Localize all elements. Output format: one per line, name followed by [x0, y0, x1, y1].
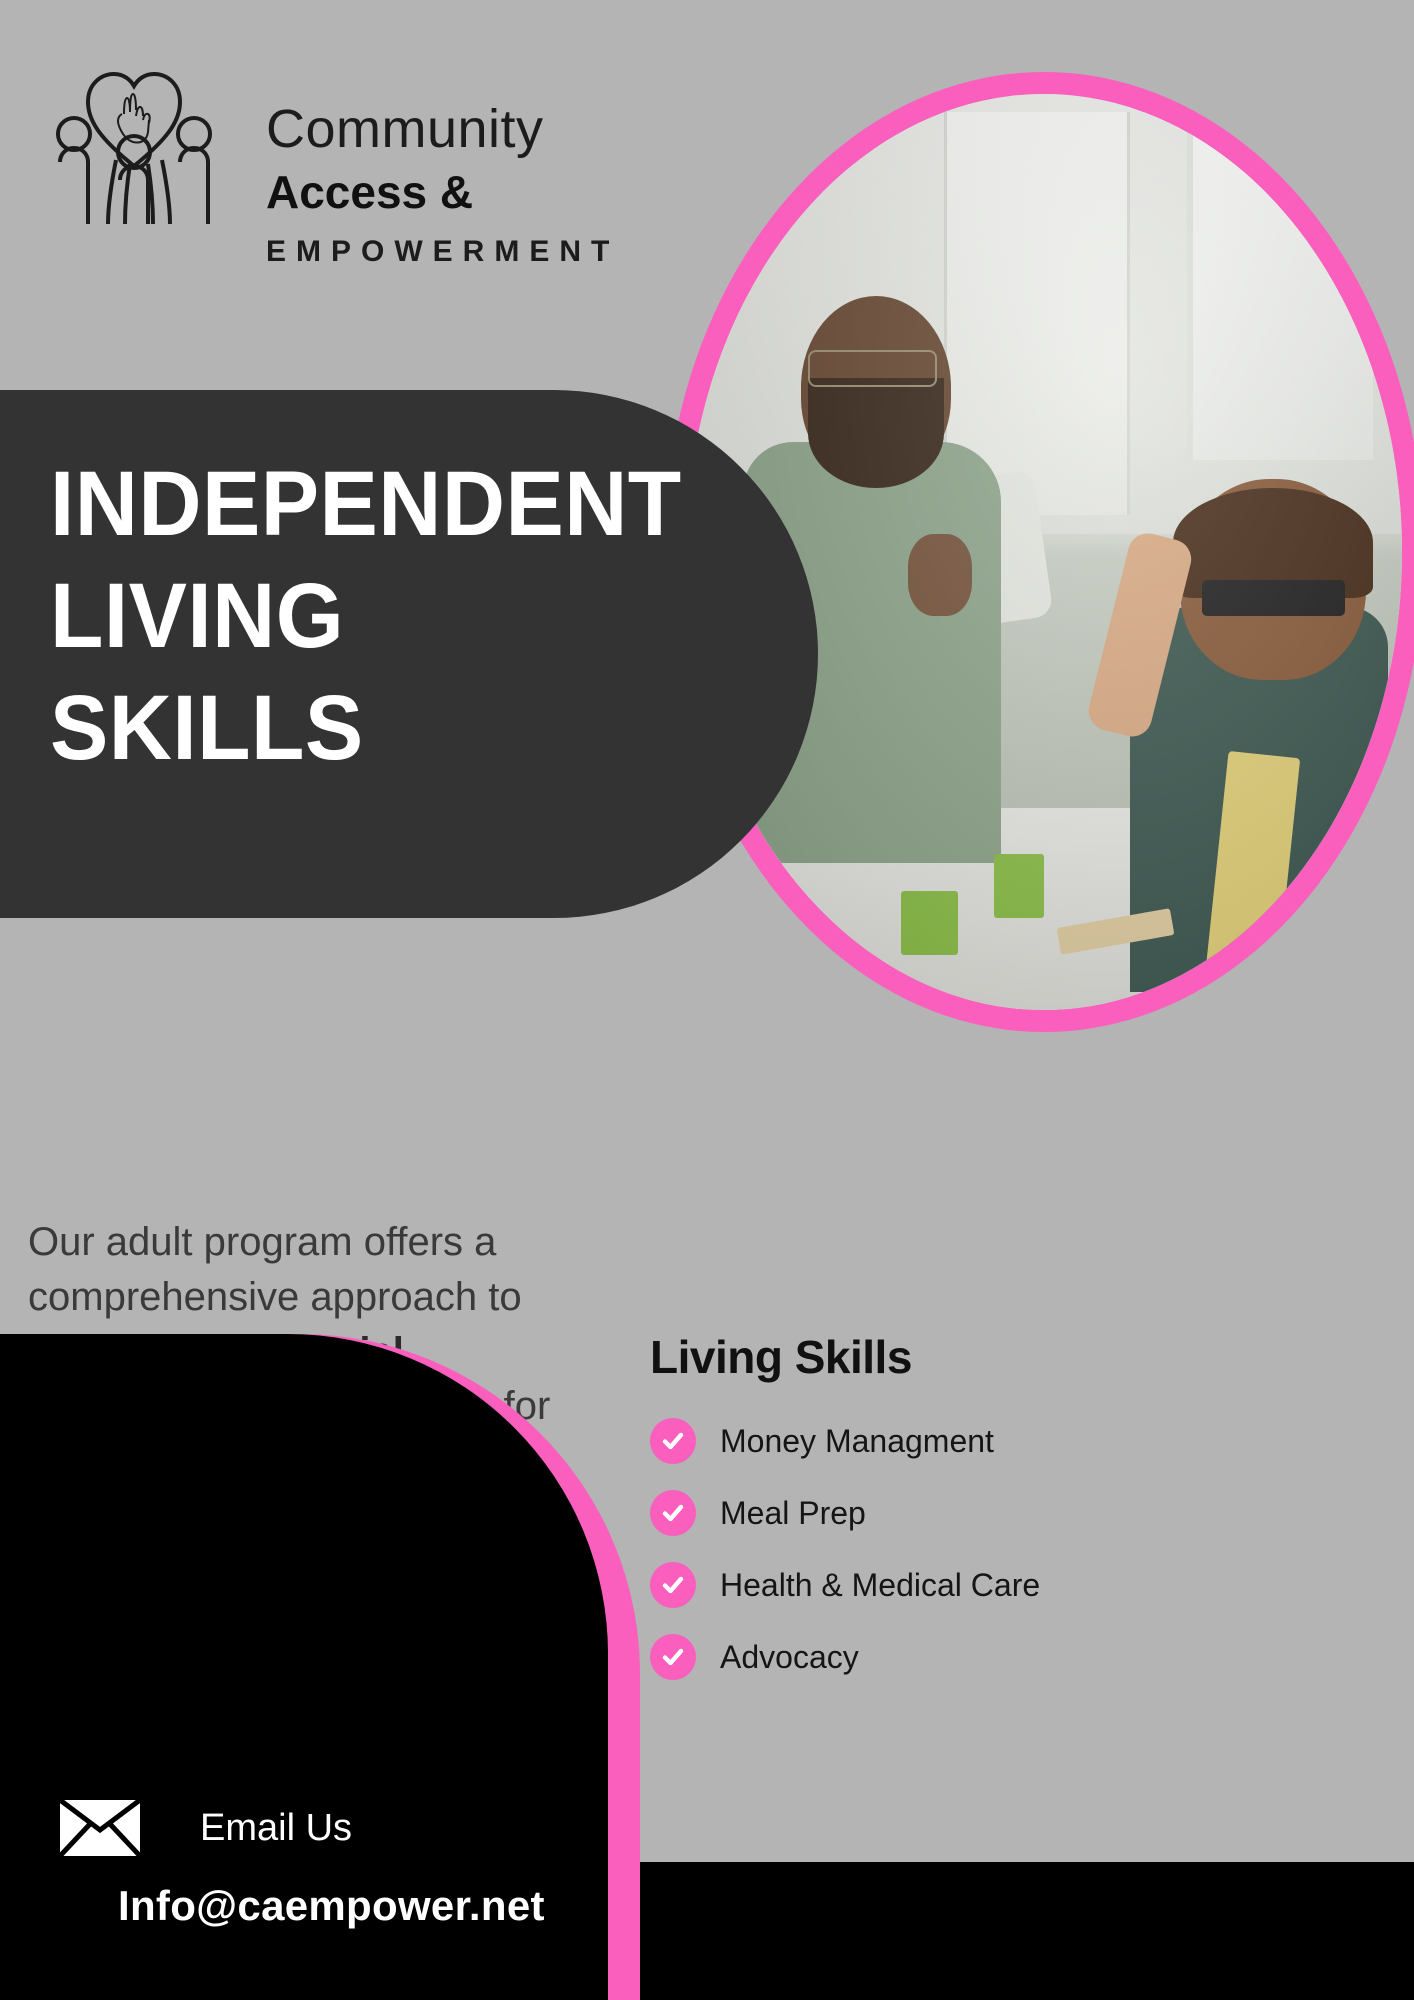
page-title: INDEPENDENT LIVING SKILLS [50, 448, 715, 785]
brand-logo-line1: Community [266, 102, 619, 156]
brand-logo-line3: EMPOWERMENT [266, 235, 619, 269]
skill-label: Health & Medical Care [720, 1567, 1040, 1604]
check-icon [650, 1634, 696, 1680]
brand-logo-text: Community Access & EMPOWERMENT [266, 102, 619, 269]
check-icon [650, 1562, 696, 1608]
living-skills-section: Living Skills Money Managment Meal Prep … [650, 1330, 1040, 1706]
page-title-line3: SKILLS [50, 672, 715, 784]
flyer-page: Community Access & EMPOWERMENT INDEPENDE… [0, 0, 1414, 2000]
check-icon [650, 1490, 696, 1536]
contact-email[interactable]: Info@caempower.net [118, 1882, 545, 1930]
page-title-line2: LIVING [50, 560, 715, 672]
list-item: Advocacy [650, 1634, 1040, 1680]
brand-logo-line2: Access & [266, 166, 619, 219]
skill-label: Meal Prep [720, 1495, 866, 1532]
page-title-line1: INDEPENDENT [50, 448, 715, 560]
list-item: Meal Prep [650, 1490, 1040, 1536]
living-skills-heading: Living Skills [650, 1330, 1040, 1384]
title-panel: INDEPENDENT LIVING SKILLS [0, 390, 818, 918]
contact-label: Email Us [200, 1807, 352, 1850]
heart-hands-people-logo-icon [44, 44, 224, 224]
contact-block: Email Us Info@caempower.net [60, 1800, 545, 1930]
skill-label: Advocacy [720, 1639, 859, 1676]
envelope-icon [60, 1800, 140, 1856]
list-item: Money Managment [650, 1418, 1040, 1464]
check-icon [650, 1418, 696, 1464]
contact-row: Email Us [60, 1800, 545, 1856]
list-item: Health & Medical Care [650, 1562, 1040, 1608]
skill-label: Money Managment [720, 1423, 994, 1460]
